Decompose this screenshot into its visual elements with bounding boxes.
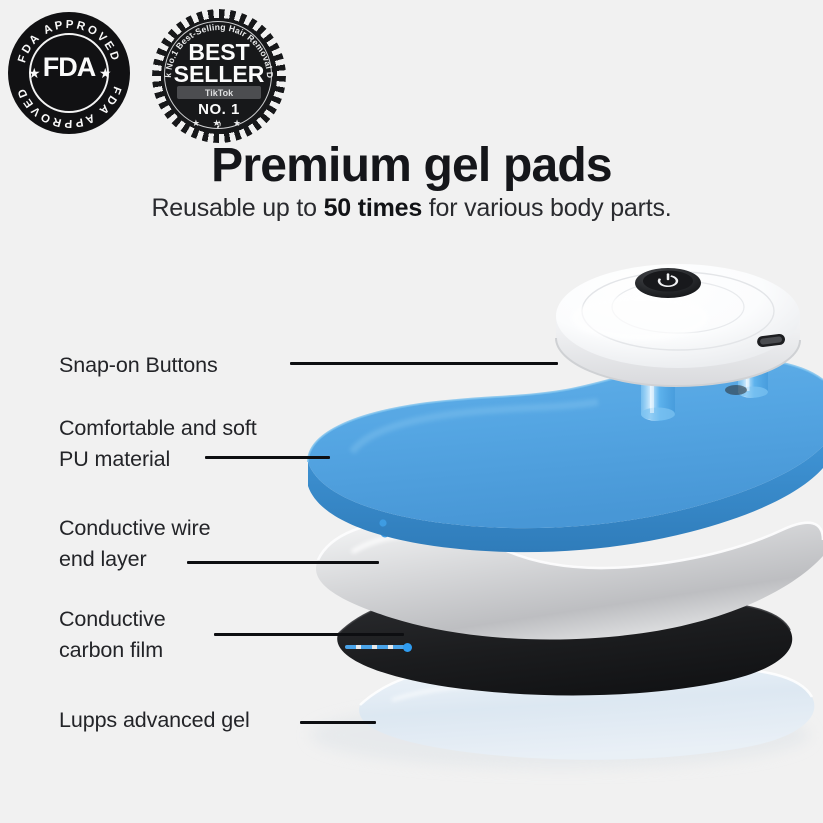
callout-label-snap-on-buttons: Snap-on Buttons (59, 350, 218, 381)
page-subtitle: Reusable up to 50 times for various body… (0, 194, 823, 223)
subtitle-highlight: 50 times (324, 194, 422, 222)
star-icon: ★ (28, 66, 41, 80)
leader-line-pu-material (205, 456, 330, 459)
callout-label-carbon-film: Conductive carbon film (59, 604, 166, 666)
best-text: BEST (155, 41, 283, 63)
power-button[interactable] (635, 268, 701, 298)
carbon-film-trace-dot (403, 643, 412, 652)
leader-line-conductive-wire (187, 561, 379, 564)
floor-shadow (310, 701, 810, 769)
callout-label-pu-material: Comfortable and soft PU material (59, 413, 257, 475)
usb-c-port (756, 333, 785, 347)
layer-pu-pad (308, 358, 823, 552)
callout-label-lupps-gel: Lupps advanced gel (59, 705, 250, 736)
subtitle-suffix: for various body parts. (422, 194, 672, 222)
layer-conductive-wire (316, 521, 823, 640)
subtitle-prefix: Reusable up to (151, 194, 323, 222)
callout-label-conductive-wire: Conductive wire end layer (59, 513, 210, 575)
leader-line-lupps-gel (300, 721, 376, 724)
fda-wordmark: FDA (8, 52, 130, 83)
tiktok-ribbon-text: TikTok (155, 88, 283, 98)
seller-text: SELLER (155, 63, 283, 85)
infographic-canvas: FDA APPROVED FDA APPROVED FDA ★ ★ TikTok… (0, 0, 823, 823)
leader-line-snap-on-buttons (290, 362, 558, 365)
layer-lupps-gel (359, 665, 814, 760)
fda-approved-badge: FDA APPROVED FDA APPROVED FDA ★ ★ (8, 12, 130, 134)
snap-on-posts (641, 347, 768, 422)
tiktok-best-seller-badge: TikTok No.1 Best-Selling Hair Removal De… (155, 12, 283, 140)
star-icon: ★ (99, 66, 112, 80)
wire-contact-dot (381, 529, 390, 538)
carbon-film-trace (345, 645, 405, 649)
power-icon (657, 274, 679, 287)
leader-line-carbon-film (214, 633, 404, 636)
control-unit[interactable] (556, 264, 800, 386)
page-title: Premium gel pads (0, 138, 823, 193)
tiktok-note-icon: ♪ (155, 116, 283, 131)
pu-contact-dot (379, 519, 386, 526)
